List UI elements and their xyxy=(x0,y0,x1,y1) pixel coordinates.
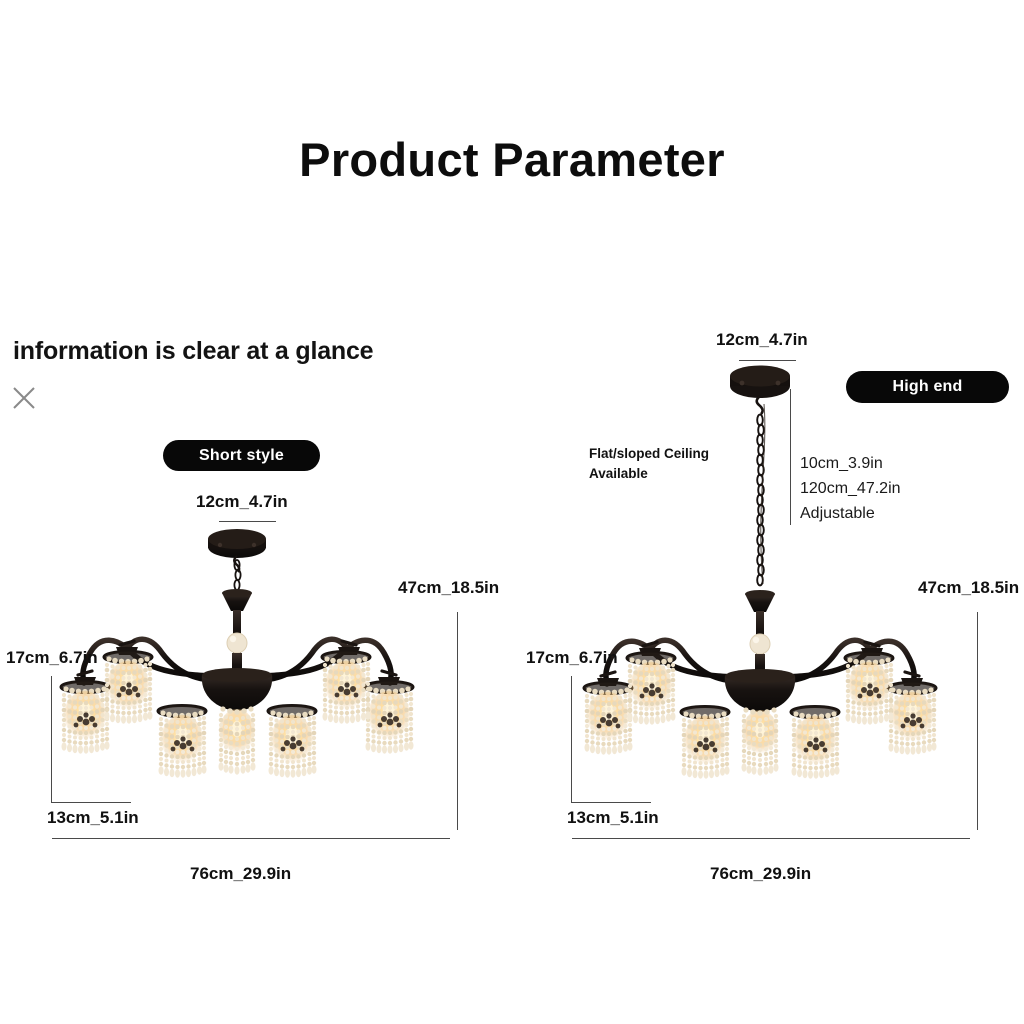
ceiling-note: Flat/sloped Ceiling Available xyxy=(589,444,709,485)
right-total-width-label: 76cm_29.9in xyxy=(710,864,811,884)
product-parameter-page: Product Parameter information is clear a… xyxy=(0,0,1024,1024)
left-canopy-leader xyxy=(219,521,276,522)
ceiling-note-line2: Available xyxy=(589,464,709,484)
left-shade-width-leader xyxy=(51,802,131,803)
right-canopy-label: 12cm_4.7in xyxy=(716,330,808,350)
right-chandelier-figure xyxy=(545,586,975,896)
left-total-width-leader xyxy=(52,838,450,839)
left-total-height-label: 47cm_18.5in xyxy=(398,578,499,598)
left-total-width-label: 76cm_29.9in xyxy=(190,864,291,884)
left-shade-width-label: 13cm_5.1in xyxy=(47,808,139,828)
left-total-height-leader xyxy=(457,612,458,830)
right-shade-width-label: 13cm_5.1in xyxy=(567,808,659,828)
close-x-icon xyxy=(9,383,39,413)
right-shade-height-label: 17cm_6.7in xyxy=(526,648,618,668)
ceiling-note-line1: Flat/sloped Ceiling xyxy=(589,444,709,464)
right-canopy-leader xyxy=(739,360,796,361)
right-suspension-figure xyxy=(700,364,820,604)
right-shade-width-leader xyxy=(571,802,651,803)
page-title: Product Parameter xyxy=(0,132,1024,187)
left-canopy-label: 12cm_4.7in xyxy=(196,492,288,512)
left-shade-height-label: 17cm_6.7in xyxy=(6,648,98,668)
right-shade-height-leader xyxy=(571,676,572,802)
left-shade-height-leader xyxy=(51,676,52,802)
right-total-width-leader xyxy=(572,838,970,839)
left-chandelier-figure xyxy=(22,525,452,835)
right-total-height-label: 47cm_18.5in xyxy=(918,578,1019,598)
badge-short-style: Short style xyxy=(163,440,320,471)
headline-text: information is clear at a glance xyxy=(13,337,373,366)
right-total-height-leader xyxy=(977,612,978,830)
badge-high-end: High end xyxy=(846,371,1009,403)
